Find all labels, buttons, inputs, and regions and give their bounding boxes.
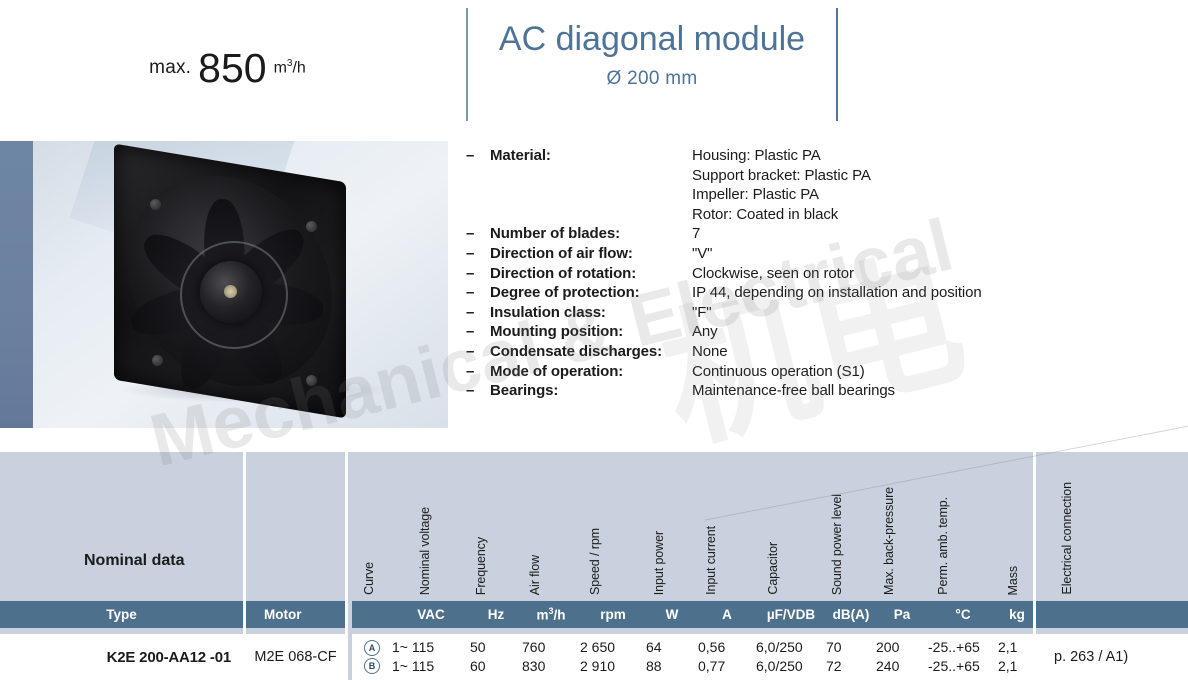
spec-key: Mode of operation: (490, 362, 692, 382)
fan-hub (200, 261, 262, 323)
cell-current: 0,560,77 (698, 634, 756, 680)
page-subtitle: Ø 200 mm (606, 68, 697, 90)
cell-mass: 2,12,1 (998, 634, 1036, 680)
unit-header-sound: dB(A) (826, 601, 876, 628)
page-title: AC diagonal module (499, 20, 805, 59)
column-separator (345, 452, 348, 680)
cell-voltage: 1~ 1151~ 115 (392, 634, 470, 680)
spec-value-extra: Impeller: Plastic PA (466, 185, 1166, 205)
spec-dash: – (466, 146, 490, 166)
spec-key: Direction of rotation: (490, 264, 692, 284)
cell-speed: 2 6502 910 (580, 634, 646, 680)
spec-dash: – (466, 224, 490, 244)
title-block: AC diagonal module Ø 200 mm (476, 0, 828, 136)
spec-key: Mounting position: (490, 322, 692, 342)
column-header-nominal-voltage: Nominal voltage (418, 507, 432, 595)
column-header-input-current: Input current (704, 526, 718, 595)
cell-backpressure: 200240 (876, 634, 928, 680)
unit-header-current: A (698, 601, 756, 628)
rotated-header-row: CurveNominal voltageFrequencyAir flowSpe… (0, 452, 1188, 601)
unit-header-row: TypeMotorVACHzm3/hrpmWAµF/VDBdB(A)Pa°Ckg (0, 601, 1188, 628)
unit-header-motor: Motor (246, 601, 345, 628)
max-label: max. (149, 57, 191, 79)
cell-sound: 7072 (826, 634, 876, 680)
spec-key: Bearings: (490, 381, 692, 401)
unit-header-airflow: m3/h (522, 601, 580, 628)
curve-marker-a-icon: A (364, 640, 380, 656)
unit-header-speed: rpm (580, 601, 646, 628)
max-airflow-block: max. 850 m3/h (0, 0, 455, 136)
column-header-speed-rpm: Speed / rpm (588, 528, 602, 595)
spec-row: –Condensate discharges:None (466, 342, 1166, 362)
spec-value: Maintenance-free ball bearings (692, 381, 895, 401)
unit-header-frequency: Hz (470, 601, 522, 628)
spec-row: –Bearings:Maintenance-free ball bearings (466, 381, 1166, 401)
spec-value: IP 44, depending on installation and pos… (692, 283, 982, 303)
unit-header-voltage: VAC (392, 601, 470, 628)
spec-row: –Insulation class:"F" (466, 303, 1166, 323)
spec-value-extra: Support bracket: Plastic PA (466, 166, 1166, 186)
spec-dash: – (466, 322, 490, 342)
spec-key: Degree of protection: (490, 283, 692, 303)
spec-key: Number of blades: (490, 224, 692, 244)
cell-capacitor: 6,0/2506,0/250 (756, 634, 826, 680)
cell-motor: M2E 068-CF (246, 634, 345, 680)
max-value: 850 (198, 45, 266, 92)
spec-row: –Direction of air flow:"V" (466, 244, 1166, 264)
unit-header-curve (352, 601, 392, 628)
max-unit: m3/h (274, 58, 306, 77)
cell-airflow: 760830 (522, 634, 580, 680)
table-row: K2E 200-AA12 -01M2E 068-CFAB1~ 1151~ 115… (0, 634, 1188, 680)
spec-key: Material: (490, 146, 692, 166)
cell-frequency: 5060 (470, 634, 522, 680)
unit-header-type: Type (0, 601, 243, 628)
spec-value: Any (692, 322, 718, 342)
spec-key: Condensate discharges: (490, 342, 692, 362)
specification-list: –Material:Housing: Plastic PASupport bra… (466, 146, 1166, 401)
spec-row: –Mounting position:Any (466, 322, 1166, 342)
spec-row: –Direction of rotation:Clockwise, seen o… (466, 264, 1166, 284)
photo-side-strip (0, 141, 33, 428)
unit-header-temp: °C (928, 601, 998, 628)
column-separator (1033, 452, 1036, 680)
column-header-max-back-pressure: Max. back-pressure (882, 487, 896, 595)
column-header-frequency: Frequency (474, 537, 488, 595)
spec-row: –Mode of operation:Continuous operation … (466, 362, 1166, 382)
spec-value: "V" (692, 244, 712, 264)
datasheet-page: Mechanical & Electrical 机电 max. 850 m3/h… (0, 0, 1188, 680)
nominal-data-label: Nominal data (84, 552, 184, 570)
spec-value-extra: Rotor: Coated in black (466, 205, 1166, 225)
column-header-electrical-connection: Electrical connection (1060, 482, 1074, 595)
cell-temp: -25..+65-25..+65 (928, 634, 998, 680)
unit-header-capacitor: µF/VDB (756, 601, 826, 628)
spec-row: –Number of blades:7 (466, 224, 1166, 244)
column-header-perm-amb-temp: Perm. amb. temp. (936, 497, 950, 595)
unit-header-backpressure: Pa (876, 601, 928, 628)
unit-header-power: W (646, 601, 698, 628)
fan-illustration (108, 159, 373, 411)
spec-dash: – (466, 283, 490, 303)
page-header: max. 850 m3/h AC diagonal module Ø 200 m… (0, 0, 1188, 136)
product-photo (0, 141, 448, 428)
spec-dash: – (466, 342, 490, 362)
spec-value: Continuous operation (S1) (692, 362, 865, 382)
cell-type: K2E 200-AA12 -01 (0, 634, 243, 680)
column-header-air-flow: Air flow (528, 555, 542, 595)
divider-right (836, 8, 838, 121)
spec-value: Housing: Plastic PA (692, 146, 821, 166)
curve-marker-b-icon: B (364, 658, 380, 674)
spec-dash: – (466, 362, 490, 382)
spec-dash: – (466, 264, 490, 284)
spec-value: 7 (692, 224, 700, 244)
cell-connection: p. 263 / A1) (1036, 634, 1188, 680)
spec-key: Insulation class: (490, 303, 692, 323)
cell-power: 6488 (646, 634, 698, 680)
column-header-sound-power-level: Sound power level (830, 494, 844, 595)
spec-dash: – (466, 303, 490, 323)
spec-row: –Degree of protection:IP 44, depending o… (466, 283, 1166, 303)
spec-dash: – (466, 381, 490, 401)
unit-header-mass: kg (998, 601, 1036, 628)
column-separator (243, 452, 246, 680)
divider-left (466, 8, 468, 121)
spec-value: "F" (692, 303, 712, 323)
spec-value: None (692, 342, 727, 362)
column-header-curve: Curve (362, 562, 376, 595)
spec-dash: – (466, 244, 490, 264)
column-header-input-power: Input power (652, 531, 666, 595)
spec-value: Clockwise, seen on rotor (692, 264, 854, 284)
unit-header-connection (1036, 601, 1188, 628)
cell-curve: AB (352, 634, 392, 680)
column-header-capacitor: Capacitor (766, 542, 780, 595)
spec-key: Direction of air flow: (490, 244, 692, 264)
column-header-mass: Mass (1006, 566, 1020, 595)
spec-row: –Material:Housing: Plastic PA (466, 146, 1166, 166)
